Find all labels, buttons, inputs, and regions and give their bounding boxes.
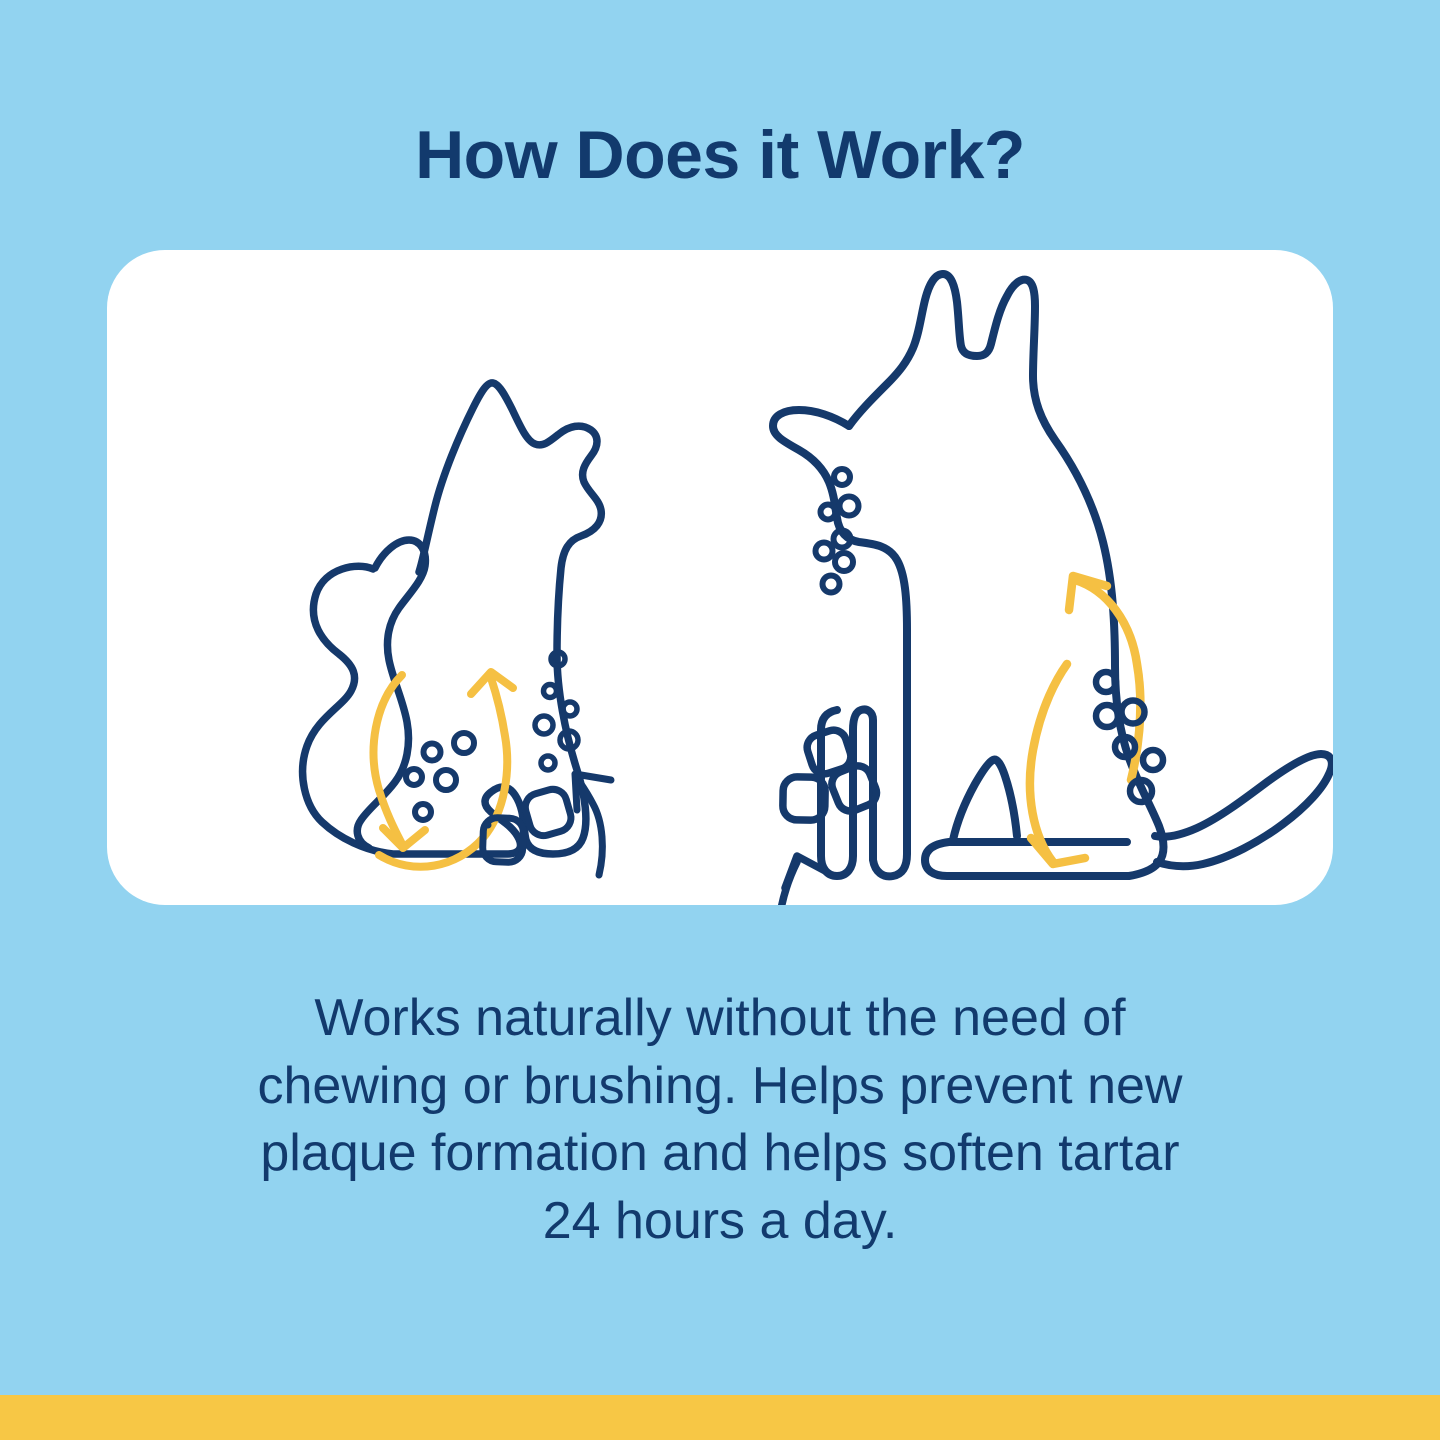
dog-kibble	[783, 727, 881, 821]
accent-bar	[0, 1395, 1440, 1440]
cat-inner-bubbles	[406, 733, 474, 820]
page-title: How Does it Work?	[0, 118, 1440, 193]
dog-silhouette	[773, 274, 1332, 876]
caption-line-4: 24 hours a day.	[160, 1188, 1280, 1256]
caption-line-3: plaque formation and helps soften tartar	[160, 1120, 1280, 1188]
caption-line-1: Works naturally without the need of	[160, 985, 1280, 1053]
infographic-page: How Does it Work?	[0, 0, 1440, 1440]
caption-text: Works naturally without the need of chew…	[160, 985, 1280, 1255]
cat-arrow-head-down	[383, 828, 425, 848]
pet-illustration	[107, 250, 1333, 905]
dog-rising-bubbles	[816, 469, 859, 593]
cat-silhouette	[303, 383, 602, 854]
illustration-card	[107, 250, 1333, 905]
cat-up-arrow	[575, 774, 611, 875]
caption-line-2: chewing or brushing. Helps prevent new	[160, 1053, 1280, 1121]
